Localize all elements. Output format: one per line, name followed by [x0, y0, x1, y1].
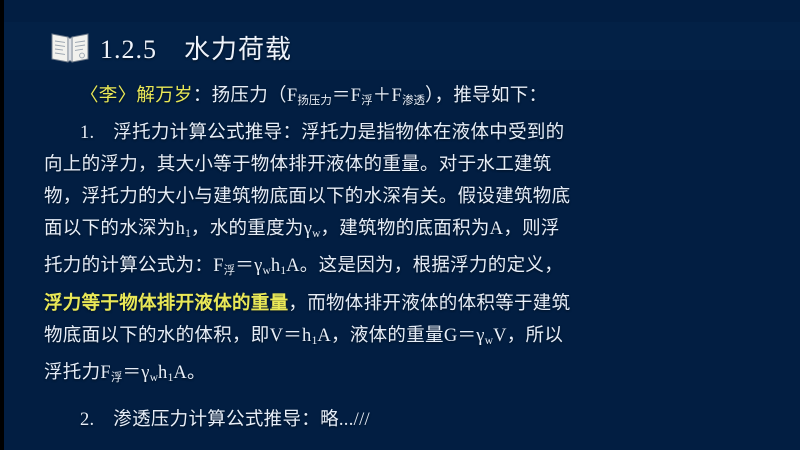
p1-seg-2: ，水的重度为γ [191, 219, 312, 239]
open-book-icon [50, 30, 90, 64]
paragraph-item-1: 1. 浮托力计算公式推导：浮托力是指物体在液体中受到的向上的浮力，其大小等于物体… [44, 117, 574, 394]
slide-canvas: 1.2.5 水力荷载 〈李〉解万岁：扬压力（F扬压力＝F浮＋F渗透），推导如下：… [4, 0, 800, 450]
p1-sub-w4: w [150, 372, 158, 384]
p1-seg-11: h [158, 363, 168, 383]
p1-seg-5: h [271, 256, 281, 276]
highlight-definition: 浮力等于物体排开液体的重量 [44, 294, 288, 314]
p1-sub-w3: w [485, 335, 493, 347]
highlight-author: 〈李〉解万岁 [80, 86, 193, 106]
intro-sub-2: 浮 [361, 95, 372, 107]
intro-text-a: ：扬压力（F [193, 86, 298, 106]
slide-title-row: 1.2.5 水力荷载 [50, 24, 292, 70]
paragraph-spacer [44, 394, 574, 404]
p1-sub-fu2: 浮 [111, 372, 122, 384]
p1-seg-6: A。这是因为，根据浮力的定义， [286, 256, 563, 276]
p1-seg-12: A。 [173, 363, 205, 383]
p1-sub-fu1: 浮 [224, 266, 235, 278]
p1-seg-8: A，液体的重量G＝γ [317, 326, 484, 346]
intro-text-c: ＋F [373, 86, 402, 106]
p1-sub-w2: w [263, 266, 271, 278]
slide-body: 〈李〉解万岁：扬压力（F扬压力＝F浮＋F渗透），推导如下： 1. 浮托力计算公式… [44, 80, 574, 436]
page-title: 1.2.5 水力荷载 [100, 29, 292, 66]
intro-sub-1: 扬压力 [297, 95, 331, 107]
p1-seg-10: ＝γ [122, 363, 149, 383]
paragraph-item-2: 2. 渗透压力计算公式推导：略.../// [44, 404, 574, 436]
intro-text-d: ），推导如下： [425, 86, 547, 106]
intro-sub-3: 渗透 [402, 95, 425, 107]
intro-text-b: ＝F [332, 86, 361, 106]
p1-seg-4: ＝γ [235, 256, 262, 276]
paragraph-intro: 〈李〉解万岁：扬压力（F扬压力＝F浮＋F渗透），推导如下： [44, 80, 574, 117]
